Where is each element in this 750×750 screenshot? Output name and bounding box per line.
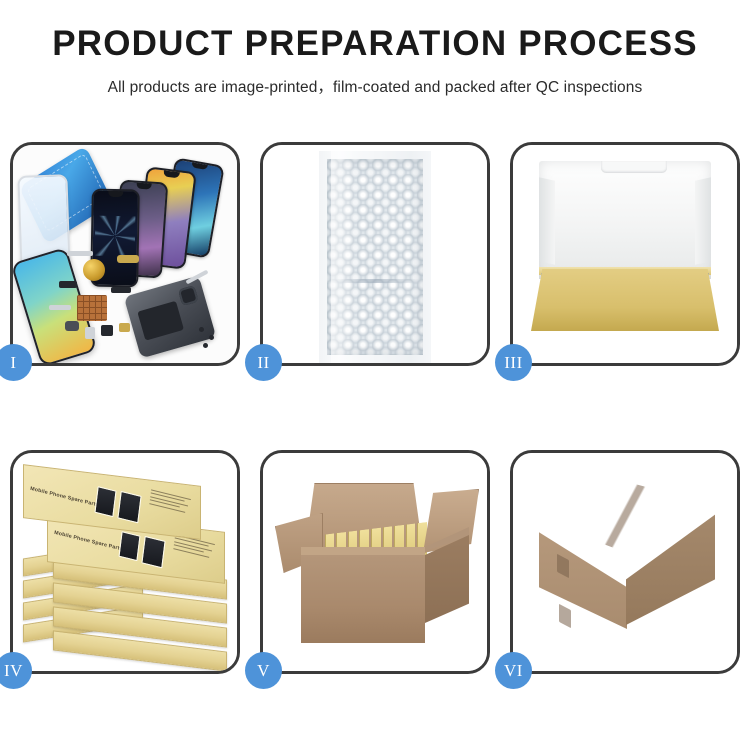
mailer-lid-icon <box>539 161 711 279</box>
box-spec-lines <box>149 489 191 515</box>
box-screen-graphic <box>141 536 165 568</box>
header: PRODUCT PREPARATION PROCESS All products… <box>0 0 750 97</box>
process-step-panel-4[interactable]: Mobile Phone Spare Parts Mobile Phone Sp… <box>10 450 240 674</box>
connector-icon <box>117 255 139 263</box>
box-screen-graphic <box>94 486 116 517</box>
open-mailer-box <box>529 161 721 347</box>
mailer-tray-icon <box>531 269 719 331</box>
sim-tray-icon <box>85 327 95 339</box>
step-6-image <box>513 453 737 671</box>
camera-module-icon <box>65 321 79 331</box>
step-badge-3: III <box>495 344 532 381</box>
vibration-motor-icon <box>101 325 113 336</box>
small-part-icon <box>111 287 131 293</box>
page-title: PRODUCT PREPARATION PROCESS <box>0 26 750 63</box>
process-step-panel-3[interactable]: III <box>510 142 740 366</box>
step-2-image <box>263 145 487 363</box>
step-4-image: Mobile Phone Spare Parts Mobile Phone Sp… <box>13 453 237 671</box>
box-label-text: Mobile Phone Spare Parts <box>54 530 123 553</box>
stacked-product-boxes: Mobile Phone Spare Parts Mobile Phone Sp… <box>21 471 229 661</box>
box-label-text: Mobile Phone Spare Parts <box>30 486 99 509</box>
screw-icon <box>209 335 214 340</box>
antenna-cable-icon <box>49 305 71 310</box>
process-step-panel-6[interactable]: VI <box>510 450 740 674</box>
carton-tape-icon <box>559 604 571 628</box>
gold-contact-icon <box>119 323 130 332</box>
step-badge-6: VI <box>495 652 532 689</box>
flex-cable-icon <box>67 251 93 256</box>
process-step-panel-1[interactable]: I <box>10 142 240 366</box>
process-step-panel-2[interactable]: II <box>260 142 490 366</box>
small-part-icon <box>59 281 77 288</box>
bubble-wrap-sleeve <box>319 151 431 363</box>
step-3-image <box>513 145 737 363</box>
screw-icon <box>203 343 208 348</box>
step-5-image <box>263 453 487 671</box>
screw-icon <box>199 327 204 332</box>
process-step-panel-5[interactable]: V <box>260 450 490 674</box>
page-subtitle: All products are image-printed，film-coat… <box>0 75 750 97</box>
step-badge-2: II <box>245 344 282 381</box>
circuit-board-icon <box>77 295 107 321</box>
process-steps-grid: I II III <box>10 142 740 674</box>
carton-front-panel <box>301 555 425 643</box>
speaker-coil-icon <box>83 259 105 281</box>
step-badge-1: I <box>0 344 32 381</box>
step-badge-4: IV <box>0 652 32 689</box>
step-badge-5: V <box>245 652 282 689</box>
step-1-image <box>13 145 237 363</box>
open-shipping-carton <box>277 477 475 655</box>
box-screen-graphic <box>118 531 140 561</box>
bubble-wrap-highlight <box>331 151 357 363</box>
sealed-shipping-carton <box>529 479 725 651</box>
box-screen-graphic <box>117 491 141 523</box>
